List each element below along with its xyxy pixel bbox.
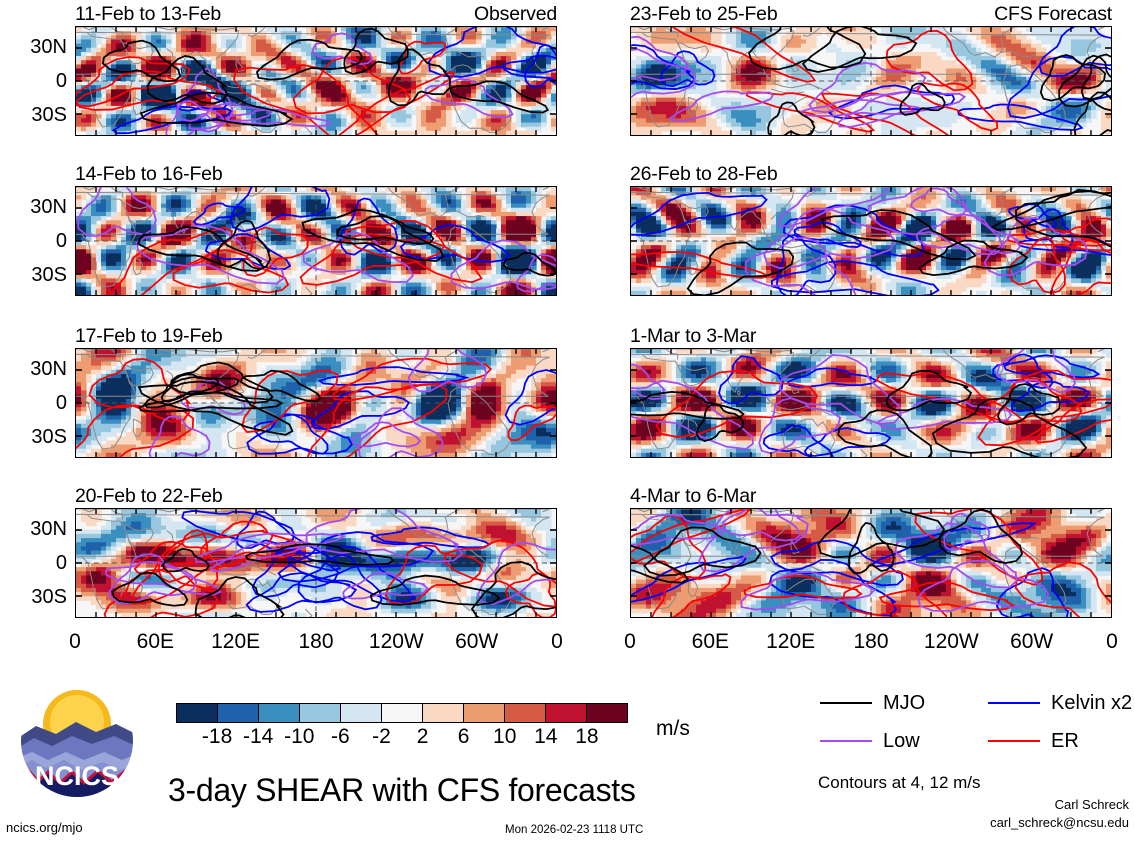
- x-tick-label: 60W: [455, 630, 498, 654]
- colorbar-strip: [176, 703, 628, 723]
- legend-line-swatch: [988, 740, 1040, 743]
- colorbar-tick-label: 2: [417, 725, 429, 749]
- shear-anomaly-field: [631, 509, 1111, 617]
- y-tick-label: 0: [56, 71, 67, 91]
- x-tick-label: 60W: [1010, 630, 1053, 654]
- panel-column-header: CFS Forecast: [994, 4, 1112, 24]
- y-tick-label: 30S: [31, 105, 67, 125]
- colorbar-segment-10: [587, 704, 627, 722]
- legend-label: MJO: [883, 692, 925, 714]
- x-tick-label: 120W: [924, 630, 979, 654]
- logo-text: NCICS: [35, 761, 119, 791]
- x-tick-label: 0: [551, 630, 563, 654]
- colorbar-tick-label: 6: [458, 725, 470, 749]
- y-tick-label: 30N: [30, 37, 67, 57]
- colorbar-segment-1: [218, 704, 259, 722]
- colorbar-tick-labels: -18-14-10-6-226101418: [176, 725, 628, 751]
- map-plot-area: [75, 508, 557, 618]
- colorbar-tick-label: -18: [202, 725, 232, 749]
- y-tick-label: 30S: [31, 427, 67, 447]
- map-panel-4: 20-Feb to 22-Feb30N030S: [75, 508, 557, 618]
- colorbar-tick-label: 18: [575, 725, 598, 749]
- shear-anomaly-field: [76, 27, 556, 135]
- map-panel-6: 26-Feb to 28-Feb: [630, 186, 1112, 296]
- colorbar-segment-0: [177, 704, 218, 722]
- shear-anomaly-field: [76, 187, 556, 295]
- panel-column-header: Observed: [474, 4, 557, 24]
- colorbar-segment-8: [505, 704, 546, 722]
- legend-label: ER: [1051, 730, 1079, 752]
- panel-title: 23-Feb to 25-Feb: [630, 4, 777, 24]
- x-tick-label: 120E: [211, 630, 260, 654]
- legend-item-low: Low: [820, 730, 920, 752]
- legend-label: Kelvin x2: [1051, 692, 1132, 714]
- colorbar-tick-label: -2: [372, 725, 391, 749]
- y-tick-label: 0: [56, 553, 67, 573]
- legend-item-mjo: MJO: [820, 692, 925, 714]
- timestamp: Mon 2026-02-23 1118 UTC: [505, 823, 643, 837]
- legend-line-swatch: [988, 702, 1040, 705]
- y-tick-label: 0: [56, 231, 67, 251]
- map-panel-1: 11-Feb to 13-FebObserved30N030S: [75, 26, 557, 136]
- panel-title: 1-Mar to 3-Mar: [630, 326, 756, 346]
- map-plot-area: [630, 26, 1112, 136]
- x-tick-label: 60E: [692, 630, 729, 654]
- y-axis-labels: 30N030S: [3, 348, 75, 458]
- y-tick-label: 30N: [30, 359, 67, 379]
- x-axis-labels-left: 060E120E180120W60W0: [75, 630, 557, 656]
- map-panel-2: 14-Feb to 16-Feb30N030S: [75, 186, 557, 296]
- y-axis-labels: 30N030S: [3, 508, 75, 618]
- map-plot-area: [630, 348, 1112, 458]
- panel-title: 20-Feb to 22-Feb: [75, 486, 222, 506]
- colorbar-tick-label: -10: [284, 725, 314, 749]
- x-axis-labels-right: 060E120E180120W60W0: [630, 630, 1112, 656]
- y-tick-label: 30N: [30, 197, 67, 217]
- contour-note: Contours at 4, 12 m/s: [818, 773, 981, 793]
- map-plot-area: [75, 26, 557, 136]
- colorbar-segment-2: [259, 704, 300, 722]
- x-tick-label: 0: [69, 630, 81, 654]
- y-axis-labels: 30N030S: [3, 26, 75, 136]
- colorbar-segment-9: [546, 704, 587, 722]
- legend-item-er: ER: [988, 730, 1079, 752]
- legend-line-swatch: [820, 702, 872, 705]
- colorbar-tick-label: -6: [331, 725, 350, 749]
- colorbar-segment-7: [464, 704, 505, 722]
- x-tick-label: 180: [853, 630, 888, 654]
- shear-anomaly-field: [631, 27, 1111, 135]
- legend-line-swatch: [820, 740, 872, 743]
- map-panel-8: 4-Mar to 6-Mar: [630, 508, 1112, 618]
- y-tick-label: 0: [56, 393, 67, 413]
- legend-label: Low: [883, 730, 920, 752]
- site-url: ncics.org/mjo: [6, 820, 83, 836]
- map-plot-area: [630, 508, 1112, 618]
- x-tick-label: 180: [298, 630, 333, 654]
- panel-title: 17-Feb to 19-Feb: [75, 326, 222, 346]
- y-tick-label: 30S: [31, 587, 67, 607]
- shear-anomaly-field: [76, 349, 556, 457]
- colorbar-segment-5: [382, 704, 423, 722]
- y-axis-labels: 30N030S: [3, 186, 75, 296]
- panel-title: 14-Feb to 16-Feb: [75, 164, 222, 184]
- x-tick-label: 0: [624, 630, 636, 654]
- credit-email: carl_schreck@ncsu.edu: [990, 815, 1129, 831]
- colorbar-tick-label: 14: [534, 725, 557, 749]
- map-panel-7: 1-Mar to 3-Mar: [630, 348, 1112, 458]
- colorbar-segment-3: [300, 704, 341, 722]
- y-tick-label: 30N: [30, 519, 67, 539]
- colorbar-tick-label: 10: [493, 725, 516, 749]
- panel-title: 26-Feb to 28-Feb: [630, 164, 777, 184]
- x-tick-label: 120E: [766, 630, 815, 654]
- map-plot-area: [75, 348, 557, 458]
- panel-title: 4-Mar to 6-Mar: [630, 486, 756, 506]
- map-plot-area: [630, 186, 1112, 296]
- x-tick-label: 0: [1106, 630, 1118, 654]
- y-tick-label: 30S: [31, 265, 67, 285]
- shear-anomaly-field: [631, 187, 1111, 295]
- map-plot-area: [75, 186, 557, 296]
- colorbar-segment-4: [341, 704, 382, 722]
- colorbar-tick-label: -14: [243, 725, 273, 749]
- legend-item-kelvin-x2: Kelvin x2: [988, 692, 1132, 714]
- x-tick-label: 60E: [137, 630, 174, 654]
- x-tick-label: 120W: [369, 630, 424, 654]
- contour-legend: MJOKelvin x2LowER: [820, 692, 1135, 762]
- credit-name: Carl Schreck: [1055, 797, 1129, 813]
- ncics-logo: NCICS: [18, 682, 136, 800]
- colorbar-segment-6: [423, 704, 464, 722]
- map-panel-3: 17-Feb to 19-Feb30N030S: [75, 348, 557, 458]
- colorbar-units-label: m/s: [656, 717, 690, 741]
- panel-title: 11-Feb to 13-Feb: [75, 4, 221, 24]
- shear-anomaly-field: [76, 509, 556, 617]
- shear-anomaly-field: [631, 349, 1111, 457]
- page-title: 3-day SHEAR with CFS forecasts: [168, 772, 636, 808]
- map-panel-5: 23-Feb to 25-FebCFS Forecast: [630, 26, 1112, 136]
